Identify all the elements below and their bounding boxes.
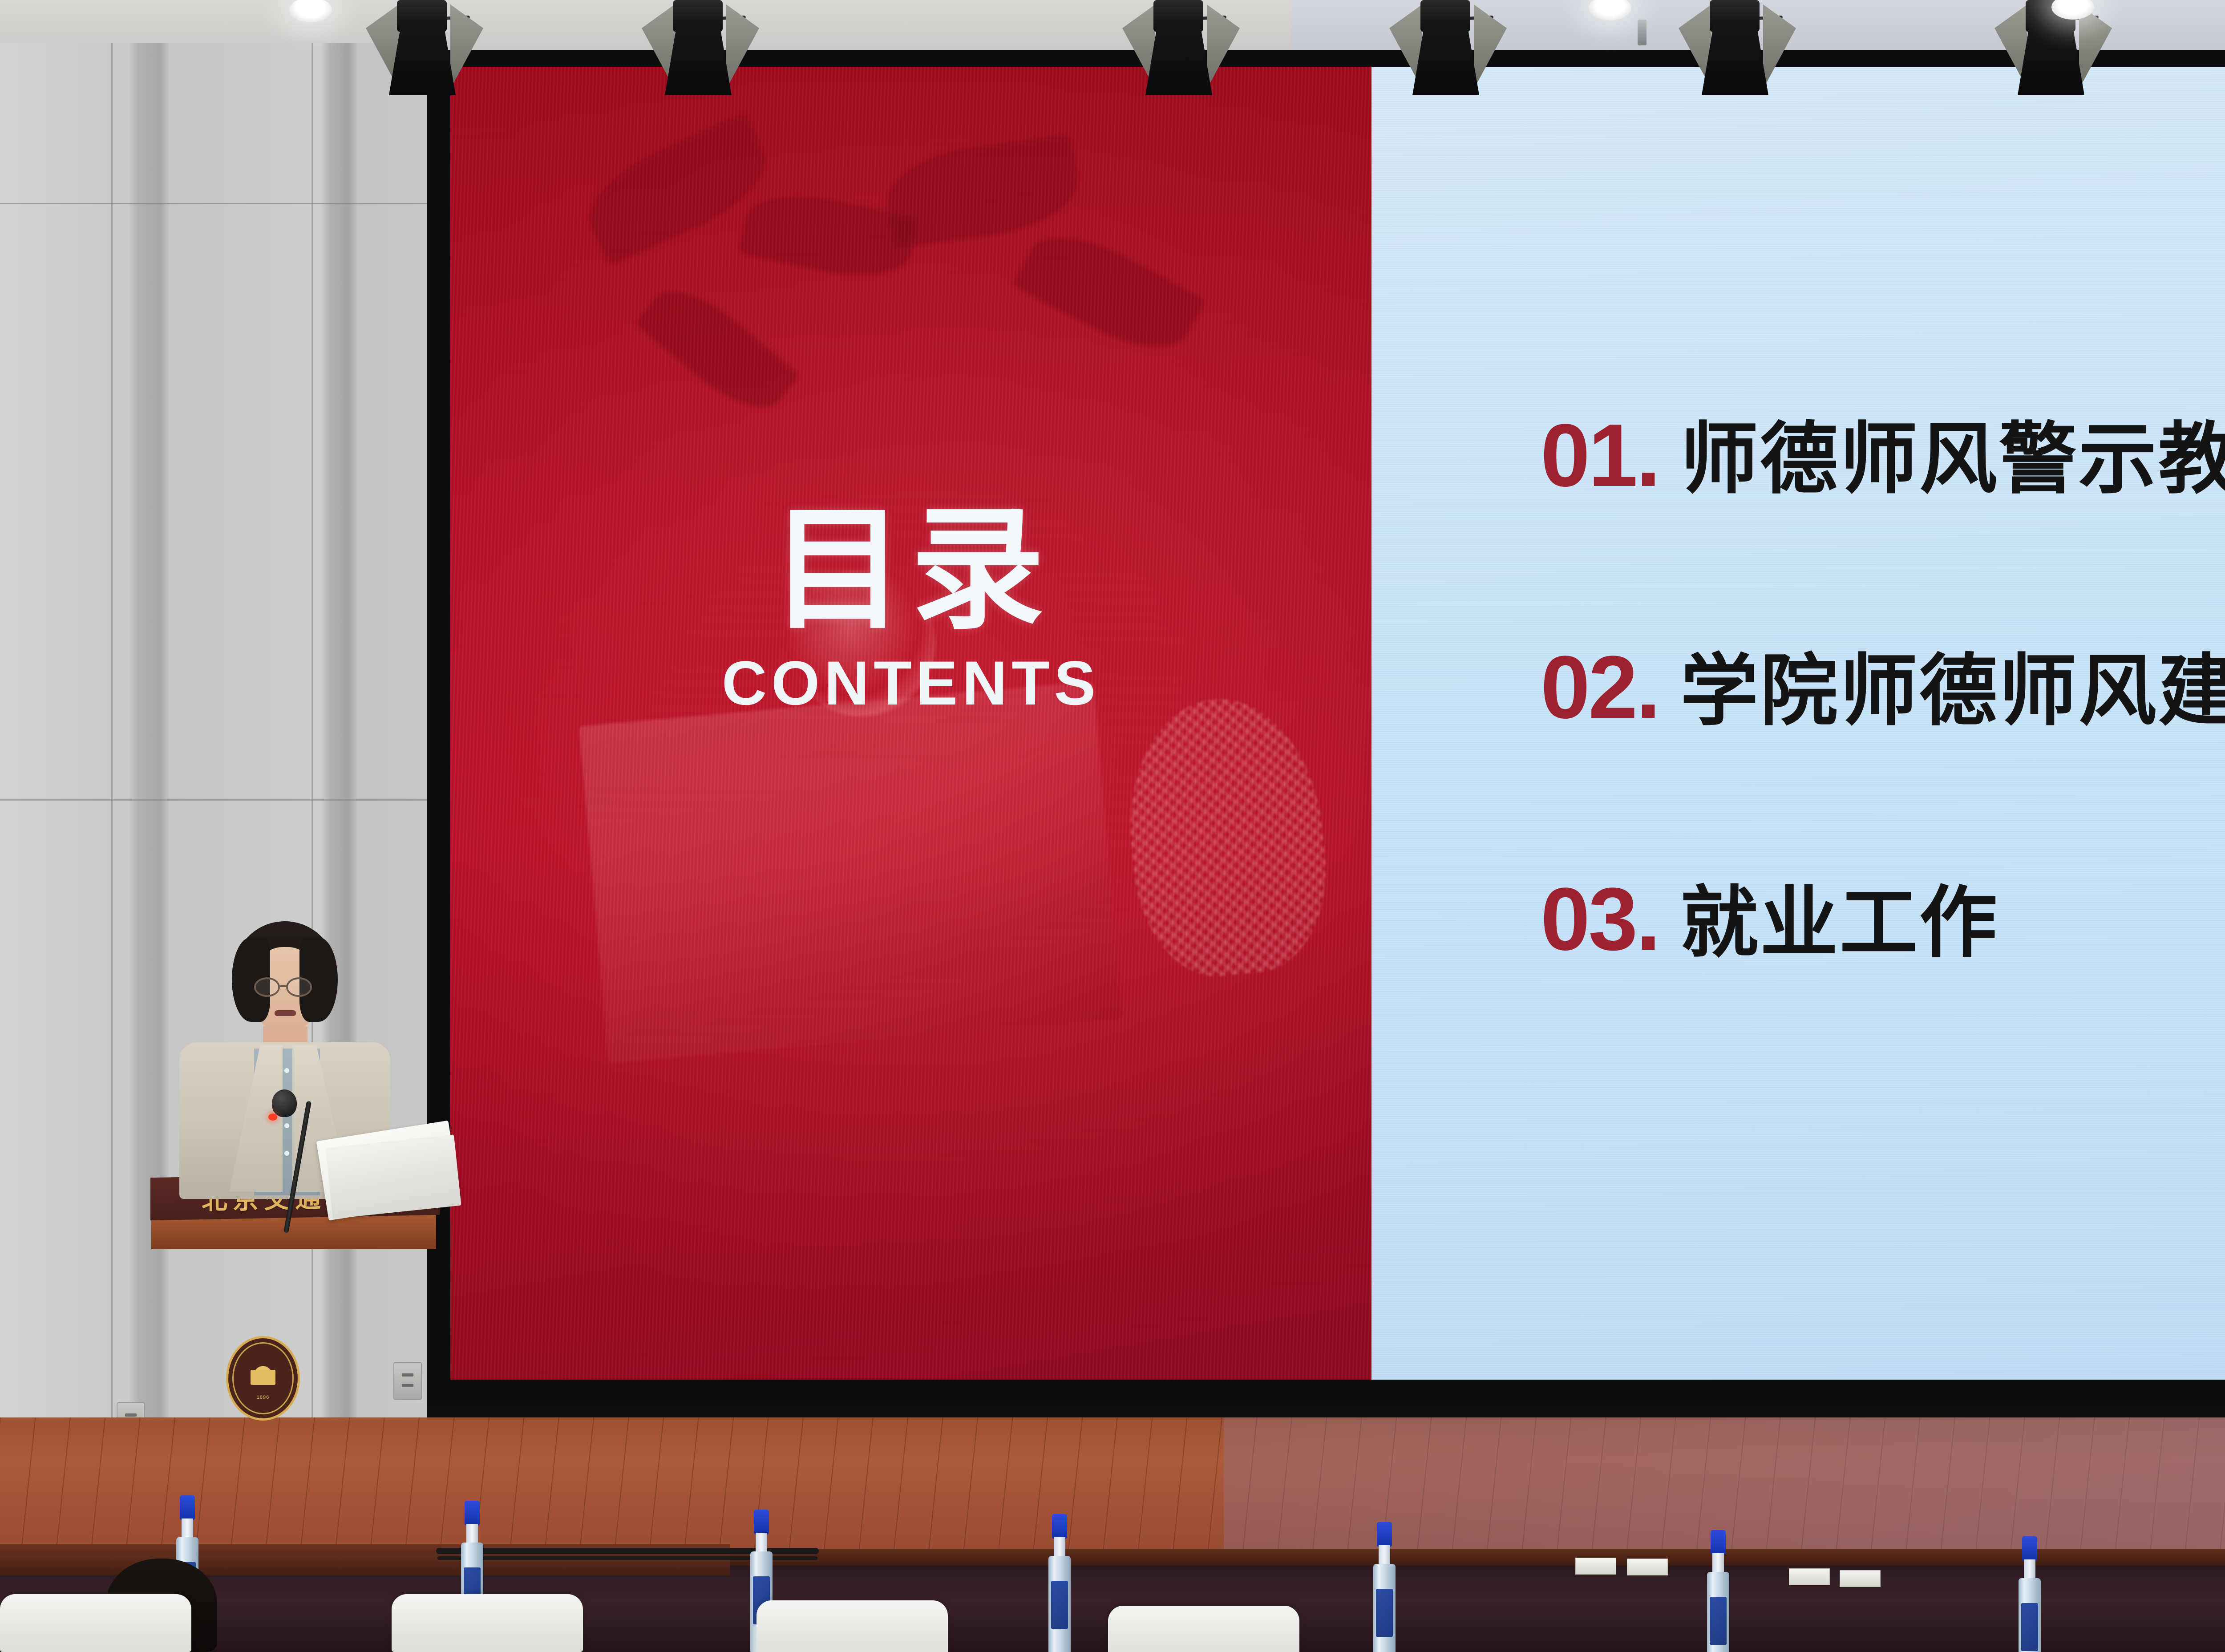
- stage-marker-card: [1789, 1568, 1830, 1585]
- auditorium-scene: 目录 CONTENTS 01. 师德师风警示教育 02. 学院师德师风建设工作 …: [0, 0, 2225, 1652]
- audience-chair: [1108, 1606, 1299, 1652]
- shirt-button: [284, 1151, 289, 1156]
- slide-left-red-panel: 目录 CONTENTS: [450, 67, 1371, 1380]
- glasses-lens-right: [286, 977, 312, 997]
- toc-label-03: 就业工作: [1680, 860, 1999, 972]
- shirt-button: [284, 1123, 289, 1128]
- lectern-body: [187, 1244, 436, 1640]
- glasses-bridge: [280, 985, 287, 987]
- audience-chair: [392, 1594, 583, 1652]
- toc-number-02: 02.: [1541, 636, 1659, 739]
- toc-label-01: 师德师风警示教育: [1680, 396, 2225, 509]
- stage-marker-card: [1840, 1570, 1881, 1587]
- glasses-lens-left: [254, 977, 280, 997]
- toc-number-01: 01.: [1541, 405, 1659, 507]
- wall-seam: [0, 799, 458, 801]
- stage-marker-card: [1575, 1558, 1616, 1575]
- speech-papers-back: [325, 1134, 461, 1219]
- wall-seam: [0, 203, 458, 204]
- presenter-figure: [176, 921, 394, 1197]
- anvil-icon: [251, 1370, 275, 1385]
- toc-number-03: 03.: [1541, 868, 1659, 971]
- contents-title-en: CONTENTS: [450, 647, 1371, 719]
- sprinkler-head-icon: [1638, 20, 1646, 45]
- toc-label-02: 学院师德师风建设工作: [1680, 628, 2225, 741]
- leaf-shadow-icon: [881, 134, 1083, 249]
- table-of-contents-list: 01. 师德师风警示教育 02. 学院师德师风建设工作 03. 就业工作: [1541, 396, 2225, 1092]
- stage-marker-card: [1627, 1559, 1668, 1575]
- microphone-led-indicator: [268, 1113, 277, 1121]
- slide-right-blue-panel: 01. 师德师风警示教育 02. 学院师德师风建设工作 03. 就业工作: [1371, 67, 2225, 1380]
- lace-doily-ghost: [1117, 689, 1336, 984]
- emblem-year: 1896: [243, 1395, 283, 1400]
- shirt-button: [284, 1068, 289, 1073]
- toc-item-02[interactable]: 02. 学院师德师风建设工作: [1541, 628, 2225, 741]
- book-photo-ghost: [579, 681, 1123, 1063]
- microphone-head-icon: [272, 1089, 297, 1117]
- audience-chair: [756, 1600, 948, 1652]
- toc-item-01[interactable]: 01. 师德师风警示教育: [1541, 396, 2225, 509]
- leaf-shadow-icon: [635, 272, 800, 426]
- contents-title-cn: 目录: [450, 503, 1371, 636]
- presentation-slide[interactable]: 目录 CONTENTS 01. 师德师风警示教育 02. 学院师德师风建设工作 …: [450, 67, 2225, 1380]
- leaf-shadow-icon: [1012, 216, 1206, 368]
- contents-title-block: 目录 CONTENTS: [450, 503, 1371, 719]
- audience-chair: [0, 1594, 191, 1652]
- presenter-mouth: [275, 1010, 296, 1016]
- emblem-inner-disc: 1896: [243, 1358, 283, 1399]
- toc-item-03[interactable]: 03. 就业工作: [1541, 860, 2225, 972]
- wall-seam: [111, 43, 113, 1467]
- university-emblem-icon: 1896: [226, 1336, 300, 1421]
